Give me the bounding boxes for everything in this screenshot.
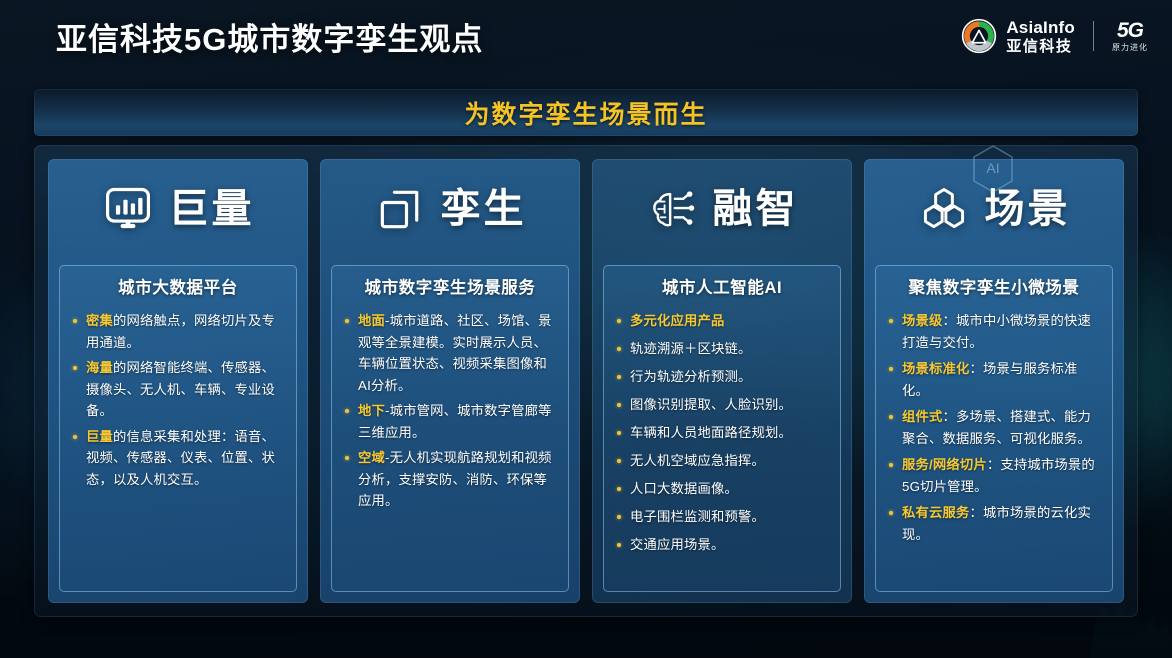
- feature-column-changjing[interactable]: 场景 聚焦数字孪生小微场景 场景级：城市中小微场景的快速打造与交付。 场景标准化…: [864, 159, 1124, 603]
- feature-column-luansheng[interactable]: 孪生 城市数字孪生场景服务 地面-城市道路、社区、场馆、景观等全景建模。实时展示…: [320, 159, 580, 603]
- bullet-text: 轨迹溯源＋区块链。: [630, 341, 751, 356]
- list-item: 多元化应用产品: [614, 310, 830, 332]
- bullet-highlight: 密集: [86, 313, 113, 328]
- brand-wordmark: AsiaInfo 亚信科技: [1006, 19, 1075, 54]
- bullet-text: 图像识别提取、人脸识别。: [630, 397, 792, 412]
- column-body-juliang: 城市大数据平台 密集的网络触点，网络切片及专用通道。 海量的网络智能终端、传感器…: [59, 265, 297, 592]
- column-title-rongzhi: 融智: [713, 189, 799, 229]
- list-item: 空域-无人机实现航路规划和视频分析，支撑安防、消防、环保等应用。: [342, 447, 558, 512]
- list-item: 组件式：多场景、搭建式、能力聚合、数据服务、可视化服务。: [886, 406, 1102, 449]
- column-body-changjing: 聚焦数字孪生小微场景 场景级：城市中小微场景的快速打造与交付。 场景标准化：场景…: [875, 265, 1113, 592]
- hexagon-cluster-icon: [918, 183, 970, 235]
- brand-name-en: AsiaInfo: [1006, 19, 1075, 36]
- bullet-list-luansheng: 地面-城市道路、社区、场馆、景观等全景建模。实时展示人员、车辆位置状态、视频采集…: [342, 310, 558, 512]
- bullet-text: 无人机空域应急指挥。: [630, 453, 765, 468]
- slide-root: 亚信科技5G城市数字孪生观点 AsiaInfo 亚信科技 5G 原力进化 为数字…: [0, 0, 1172, 658]
- bullet-text: 电子围栏监测和预警。: [630, 509, 765, 524]
- list-item: 无人机空域应急指挥。: [614, 450, 830, 472]
- feature-columns: 巨量 城市大数据平台 密集的网络触点，网络切片及专用通道。 海量的网络智能终端、…: [34, 145, 1138, 617]
- list-item: 密集的网络触点，网络切片及专用通道。: [70, 310, 286, 353]
- list-item: 车辆和人员地面路径规划。: [614, 422, 830, 444]
- list-item: 轨迹溯源＋区块链。: [614, 338, 830, 360]
- list-item: 场景级：城市中小微场景的快速打造与交付。: [886, 310, 1102, 353]
- bullet-text: 车辆和人员地面路径规划。: [630, 425, 792, 440]
- column-title-juliang: 巨量: [169, 189, 255, 229]
- list-item: 海量的网络智能终端、传感器、摄像头、无人机、车辆、专业设备。: [70, 357, 286, 422]
- bullet-list-juliang: 密集的网络触点，网络切片及专用通道。 海量的网络智能终端、传感器、摄像头、无人机…: [70, 310, 286, 490]
- bullet-text: 行为轨迹分析预测。: [630, 369, 751, 384]
- list-item: 电子围栏监测和预警。: [614, 506, 830, 528]
- bullet-text: 的网络智能终端、传感器、摄像头、无人机、车辆、专业设备。: [86, 360, 275, 418]
- ai-hexagon-icon: AI: [971, 144, 1015, 194]
- brand-name-cn: 亚信科技: [1006, 39, 1075, 54]
- bullet-text: 的信息采集和处理：语音、视频、传感器、仪表、位置、状态，以及人机交互。: [86, 429, 275, 487]
- bullet-highlight: 巨量: [86, 429, 113, 444]
- column-subtitle-rongzhi: 城市人工智能AI: [614, 274, 830, 298]
- column-body-luansheng: 城市数字孪生场景服务 地面-城市道路、社区、场馆、景观等全景建模。实时展示人员、…: [331, 265, 569, 592]
- feature-column-juliang[interactable]: 巨量 城市大数据平台 密集的网络触点，网络切片及专用通道。 海量的网络智能终端、…: [48, 159, 308, 603]
- column-header-juliang: 巨量: [48, 159, 308, 259]
- column-title-luansheng: 孪生: [441, 189, 527, 229]
- list-item: 服务/网络切片：支持城市场景的5G切片管理。: [886, 454, 1102, 497]
- bullet-highlight: 组件式: [902, 409, 943, 424]
- bullet-list-rongzhi: 多元化应用产品 轨迹溯源＋区块链。 行为轨迹分析预测。 图像识别提取、人脸识别。…: [614, 310, 830, 556]
- content-board: AI 巨量 城市大数据平台: [34, 145, 1138, 617]
- list-item: 地面-城市道路、社区、场馆、景观等全景建模。实时展示人员、车辆位置状态、视频采集…: [342, 310, 558, 396]
- list-item: 私有云服务：城市场景的云化实现。: [886, 502, 1102, 545]
- slide-header: 亚信科技5G城市数字孪生观点 AsiaInfo 亚信科技 5G 原力进化: [0, 0, 1172, 80]
- bullet-list-changjing: 场景级：城市中小微场景的快速打造与交付。 场景标准化：场景与服务标准化。 组件式…: [886, 310, 1102, 545]
- section-banner: 为数字孪生场景而生: [34, 89, 1138, 136]
- bullet-text: -城市管网、城市数字管廊等三维应用。: [358, 403, 552, 440]
- bullet-highlight: 海量: [86, 360, 113, 375]
- column-subtitle-changjing: 聚焦数字孪生小微场景: [886, 274, 1102, 298]
- bullet-highlight: 服务/网络切片: [902, 457, 987, 472]
- brand-logo: AsiaInfo 亚信科技 5G 原力进化: [961, 18, 1148, 54]
- list-item: 图像识别提取、人脸识别。: [614, 394, 830, 416]
- list-item: 场景标准化：场景与服务标准化。: [886, 358, 1102, 401]
- duplicate-squares-icon: [374, 183, 426, 235]
- bullet-highlight: 地下: [358, 403, 385, 418]
- bullet-text: -城市道路、社区、场馆、景观等全景建模。实时展示人员、车辆位置状态、视频采集图像…: [358, 313, 552, 393]
- fiveg-mark: 5G 原力进化: [1112, 20, 1148, 52]
- list-item: 人口大数据画像。: [614, 478, 830, 500]
- fiveg-label: 5G: [1117, 20, 1143, 41]
- column-header-rongzhi: 融智: [592, 159, 852, 259]
- bar-chart-monitor-icon: [102, 183, 154, 235]
- logo-divider: [1093, 21, 1094, 51]
- column-body-rongzhi: 城市人工智能AI 多元化应用产品 轨迹溯源＋区块链。 行为轨迹分析预测。 图像识…: [603, 265, 841, 592]
- column-subtitle-juliang: 城市大数据平台: [70, 274, 286, 298]
- list-item: 交通应用场景。: [614, 534, 830, 556]
- bullet-highlight: 多元化应用产品: [630, 313, 724, 328]
- bullet-highlight: 场景级: [902, 313, 943, 328]
- brain-circuit-ai-icon: [646, 183, 698, 235]
- bullet-text: 的网络触点，网络切片及专用通道。: [86, 313, 275, 350]
- bullet-text: 人口大数据画像。: [630, 481, 738, 496]
- bullet-highlight: 私有云服务: [902, 505, 969, 520]
- section-banner-text: 为数字孪生场景而生: [464, 95, 707, 131]
- list-item: 地下-城市管网、城市数字管廊等三维应用。: [342, 400, 558, 443]
- list-item: 行为轨迹分析预测。: [614, 366, 830, 388]
- page-title: 亚信科技5G城市数字孪生观点: [56, 14, 483, 59]
- bullet-highlight: 空域: [358, 450, 385, 465]
- column-title-changjing: 场景: [985, 189, 1071, 229]
- svg-text:AI: AI: [986, 160, 999, 176]
- asiainfo-circle-logo-icon: [961, 18, 997, 54]
- bullet-highlight: 地面: [358, 313, 385, 328]
- bullet-highlight: 场景标准化: [902, 361, 969, 376]
- column-header-luansheng: 孪生: [320, 159, 580, 259]
- list-item: 巨量的信息采集和处理：语音、视频、传感器、仪表、位置、状态，以及人机交互。: [70, 426, 286, 491]
- feature-column-rongzhi[interactable]: 融智 城市人工智能AI 多元化应用产品 轨迹溯源＋区块链。 行为轨迹分析预测。 …: [592, 159, 852, 603]
- bullet-text: 交通应用场景。: [630, 537, 724, 552]
- bullet-text: -无人机实现航路规划和视频分析，支撑安防、消防、环保等应用。: [358, 450, 552, 508]
- column-subtitle-luansheng: 城市数字孪生场景服务: [342, 274, 558, 298]
- fiveg-tagline: 原力进化: [1112, 44, 1148, 52]
